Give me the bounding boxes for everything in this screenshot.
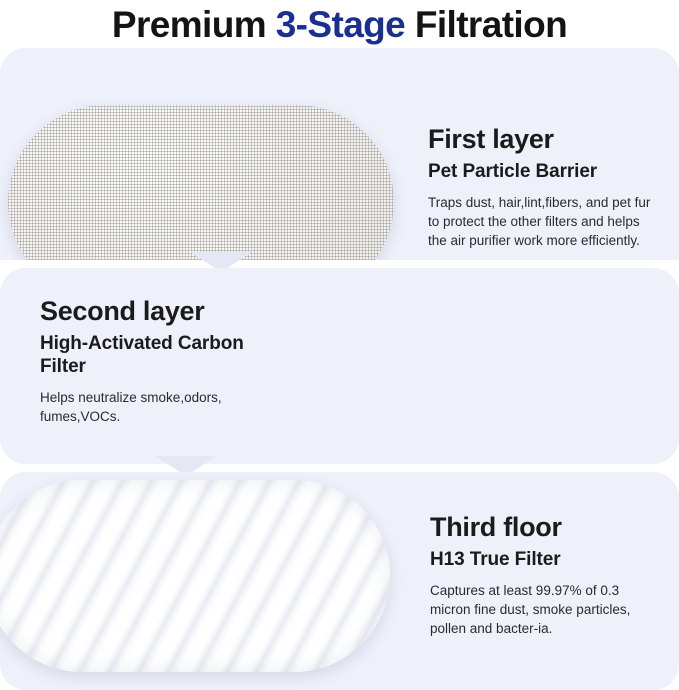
stage-panel-3: Third floor H13 True Filter Captures at …	[0, 472, 679, 690]
page-title: Premium 3-Stage Filtration	[0, 0, 679, 48]
stage-2-title: Second layer	[40, 296, 280, 327]
stage-1-subtitle: Pet Particle Barrier	[428, 160, 654, 183]
stage-1-title: First layer	[428, 124, 654, 155]
stage-2-body: Helps neutralize smoke,odors, fumes,VOCs…	[40, 388, 280, 426]
stage-panel-1: First layer Pet Particle Barrier Traps d…	[0, 48, 679, 260]
title-suffix: Filtration	[405, 4, 567, 45]
stage-3-title: Third floor	[430, 512, 662, 543]
filter-pad-pet-particle-barrier	[8, 105, 394, 260]
title-accent: 3-Stage	[276, 4, 405, 45]
stage-copy-1: First layer Pet Particle Barrier Traps d…	[428, 124, 654, 250]
filtration-infographic: Premium 3-Stage Filtration First layer P…	[0, 0, 679, 690]
stage-copy-2: Second layer High-Activated Carbon Filte…	[40, 296, 280, 426]
title-text: Premium 3-Stage Filtration	[112, 6, 567, 43]
stage-panel-2: Second layer High-Activated Carbon Filte…	[0, 268, 679, 464]
texture-white-woven-mesh	[8, 105, 394, 260]
title-prefix: Premium	[112, 4, 276, 45]
stage-copy-3: Third floor H13 True Filter Captures at …	[430, 512, 662, 638]
texture-white-pleated-hepa	[0, 480, 390, 672]
stage-2-subtitle: High-Activated Carbon Filter	[40, 332, 280, 378]
stage-3-body: Captures at least 99.97% of 0.3 micron f…	[430, 581, 662, 638]
stage-1-body: Traps dust, hair,lint,fibers, and pet fu…	[428, 193, 654, 250]
filter-pad-h13-true-hepa	[0, 480, 390, 672]
stage-3-subtitle: H13 True Filter	[430, 548, 662, 571]
